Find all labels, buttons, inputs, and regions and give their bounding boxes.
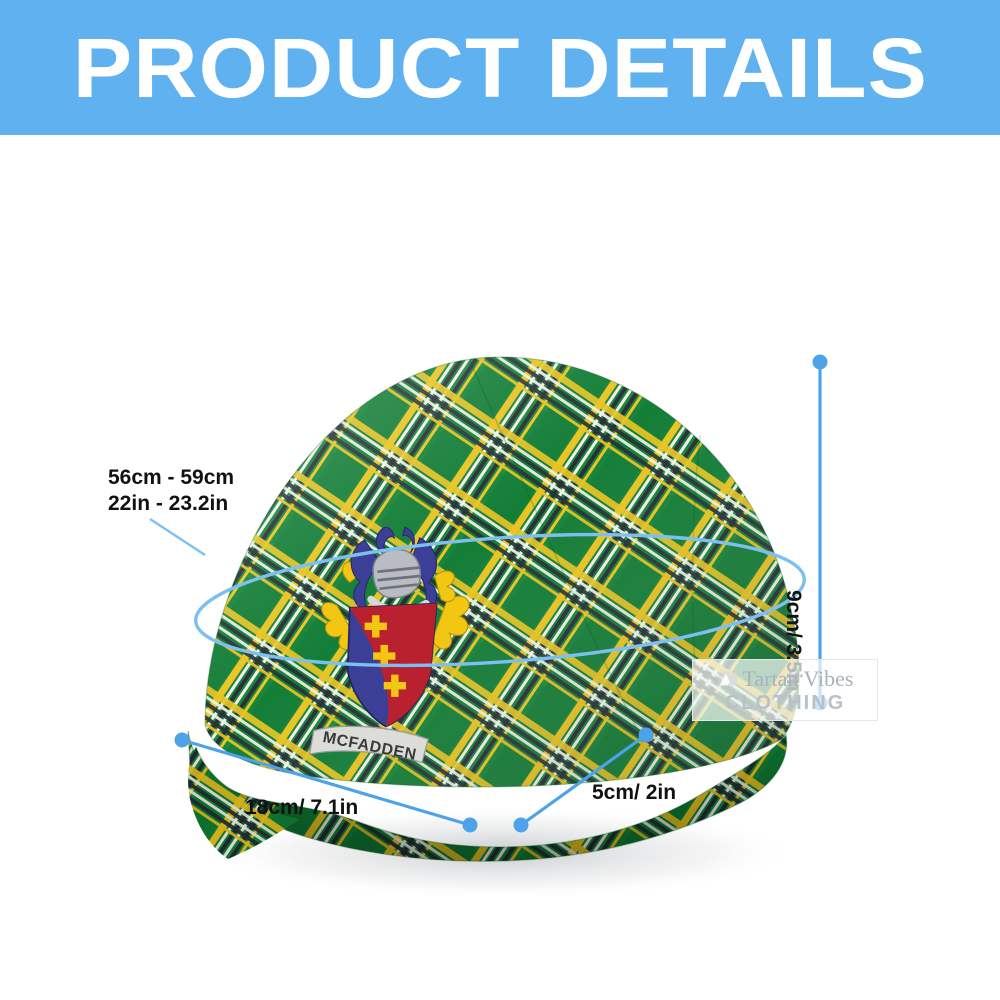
circumference-imperial: 22in - 23.2in (108, 491, 234, 517)
product-details-page: PRODUCT DETAILS (0, 0, 1000, 1000)
dimension-label-circumference: 56cm - 59cm 22in - 23.2in (108, 465, 234, 516)
circumference-leader (150, 519, 205, 555)
dimension-label-depth: 5cm/ 2in (592, 780, 676, 806)
header-band: PRODUCT DETAILS (0, 0, 1000, 135)
height-dimension-line (813, 355, 828, 711)
dimension-label-width: 18cm/ 7.1in (245, 795, 358, 821)
circumference-metric: 56cm - 59cm (108, 465, 234, 491)
product-illustration: MCFADDEN (0, 135, 1000, 1000)
page-title: PRODUCT DETAILS (72, 26, 927, 110)
dimension-label-height: 9cm/ 3.5in (780, 590, 806, 692)
product-stage: MCFADDEN (0, 135, 1000, 1000)
cap-crown (150, 315, 850, 835)
